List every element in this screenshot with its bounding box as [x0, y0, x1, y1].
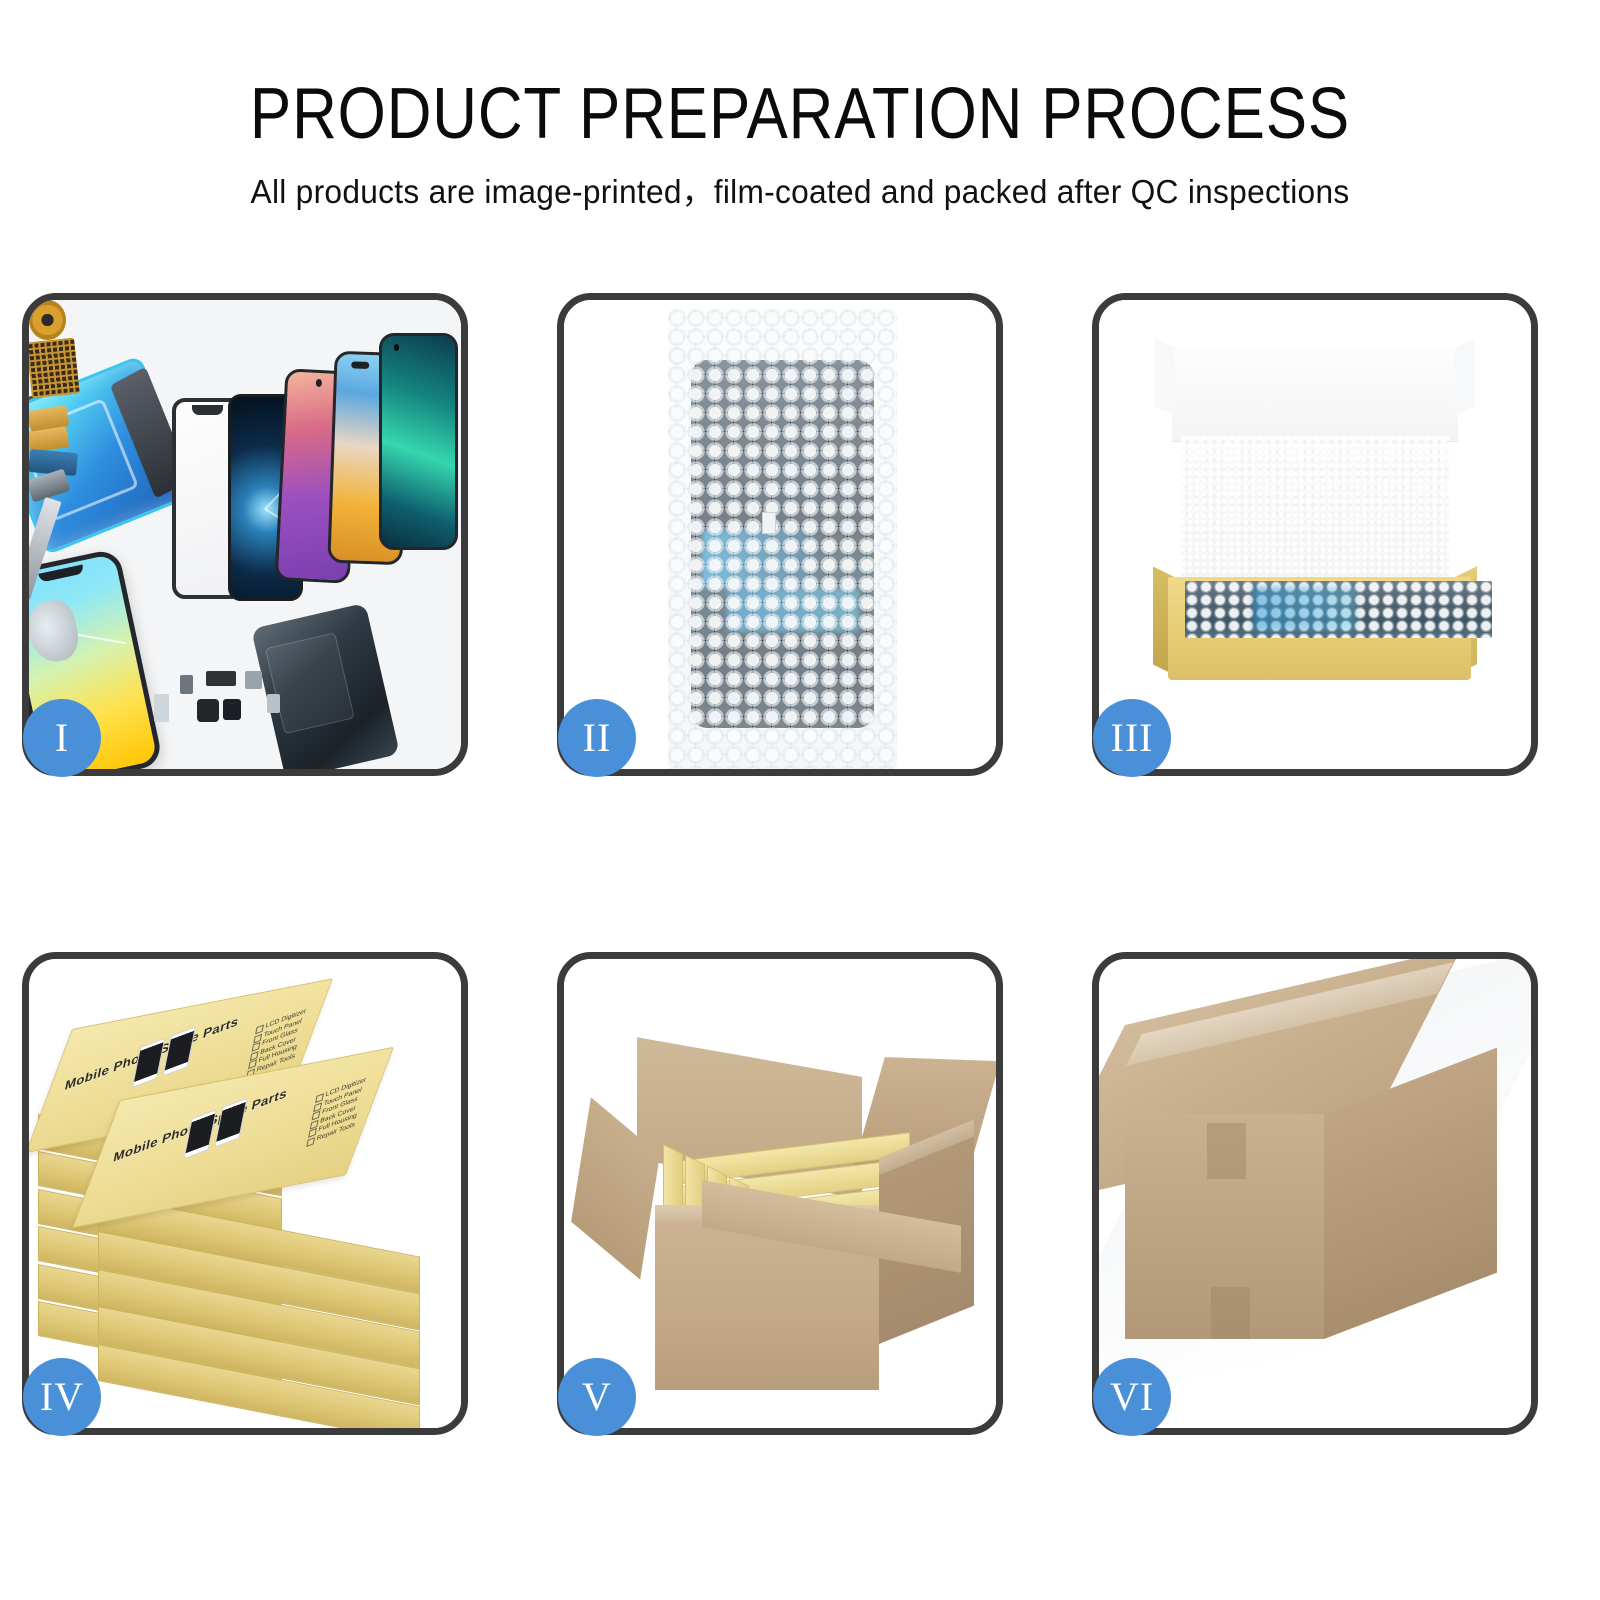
- step-badge-2: II: [558, 699, 636, 777]
- wireless-charging-coil-image: [29, 300, 66, 340]
- step-image-5: [564, 959, 996, 1428]
- step-badge-3: III: [1093, 699, 1171, 777]
- retail-box-stack-image: Mobile Phone Spare Parts LCD Digitizer T…: [29, 959, 461, 1428]
- small-part-7-image: [180, 675, 193, 694]
- tape-tab-lower-image: [1211, 1287, 1250, 1339]
- page-subtitle: All products are image-printed，film-coat…: [32, 150, 1568, 210]
- logic-chip-image: [29, 338, 79, 399]
- small-part-6-image: [267, 694, 280, 713]
- small-part-1-image: [206, 671, 236, 686]
- step-card-3: III: [1092, 293, 1538, 776]
- step-card-6: VI: [1092, 952, 1538, 1435]
- small-part-2-image: [245, 671, 262, 690]
- sim-tray-image: [154, 694, 169, 722]
- page-header: PRODUCT PREPARATION PROCESS All products…: [0, 0, 1600, 210]
- boxed-wrapped-screen-image: [1185, 581, 1492, 637]
- step-card-4: Mobile Phone Spare Parts LCD Digitizer T…: [22, 952, 468, 1435]
- retail-box-thumbnails-front: [183, 1097, 247, 1159]
- step-badge-5: V: [558, 1358, 636, 1436]
- step-card-1: I: [22, 293, 468, 776]
- phone-back-housing-image: [251, 603, 399, 769]
- phone-thumbnail: [183, 1108, 217, 1158]
- step-image-1: [29, 300, 461, 769]
- page-title: PRODUCT PREPARATION PROCESS: [112, 0, 1488, 150]
- retail-box-thumbnails-top: [132, 1026, 196, 1088]
- small-part-3-image: [197, 699, 219, 722]
- barcode-label-image: [762, 512, 777, 535]
- phone-thumbnail: [214, 1097, 248, 1147]
- step-badge-6: VI: [1093, 1358, 1171, 1436]
- step-card-5: V: [557, 952, 1003, 1435]
- mailer-lid-image: [1172, 347, 1457, 441]
- step-card-2: II: [557, 293, 1003, 776]
- bubble-texture-overlay: [668, 309, 897, 769]
- phone-thumbnail: [163, 1026, 197, 1076]
- step-image-6: [1099, 959, 1531, 1428]
- step-badge-1: I: [23, 699, 101, 777]
- phone-parts-scene: [29, 300, 461, 769]
- bubble-wrap-sleeve-image: [668, 309, 897, 769]
- phone-thumbnail: [132, 1038, 166, 1088]
- foam-lining-image: [1181, 436, 1449, 586]
- teal-phone-image: [379, 333, 458, 550]
- step-image-4: Mobile Phone Spare Parts LCD Digitizer T…: [29, 959, 461, 1428]
- step-image-3: [1099, 300, 1531, 769]
- step-badge-4: IV: [23, 1358, 101, 1436]
- process-step-grid: I II III: [22, 293, 1578, 1423]
- small-part-4-image: [223, 699, 240, 720]
- tape-tab-upper-image: [1207, 1123, 1246, 1179]
- step-image-2: [564, 300, 996, 769]
